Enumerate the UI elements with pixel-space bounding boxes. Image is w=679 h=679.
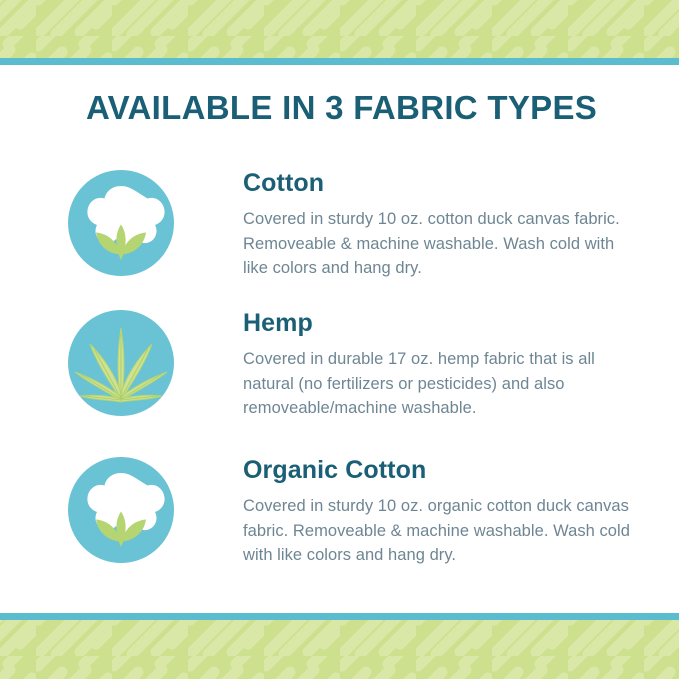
cotton-boll-icon xyxy=(66,168,176,278)
cotton-boll-icon xyxy=(66,455,176,565)
hemp-text-block: Hemp Covered in durable 17 oz. hemp fabr… xyxy=(243,308,643,421)
section-heading: Organic Cotton xyxy=(243,455,643,485)
bottom-divider-rule xyxy=(0,613,679,620)
bottom-decorative-band xyxy=(0,620,679,679)
section-heading: Cotton xyxy=(243,168,643,198)
top-divider-rule xyxy=(0,58,679,65)
page-title: AVAILABLE IN 3 FABRIC TYPES xyxy=(86,88,626,128)
section-body: Covered in sturdy 10 oz. cotton duck can… xyxy=(243,207,643,281)
cotton-text-block: Cotton Covered in sturdy 10 oz. cotton d… xyxy=(243,168,643,281)
section-heading: Hemp xyxy=(243,308,643,338)
section-body: Covered in durable 17 oz. hemp fabric th… xyxy=(243,347,643,421)
section-body: Covered in sturdy 10 oz. organic cotton … xyxy=(243,494,643,568)
diagonal-stripe-pattern-top xyxy=(0,0,679,58)
infographic-page: AVAILABLE IN 3 FABRIC TYPES Cotton Cover… xyxy=(0,0,679,679)
organic-cotton-text-block: Organic Cotton Covered in sturdy 10 oz. … xyxy=(243,455,643,568)
top-decorative-band xyxy=(0,0,679,58)
diagonal-stripe-pattern-bottom xyxy=(0,620,679,679)
hemp-leaf-icon xyxy=(66,308,176,418)
